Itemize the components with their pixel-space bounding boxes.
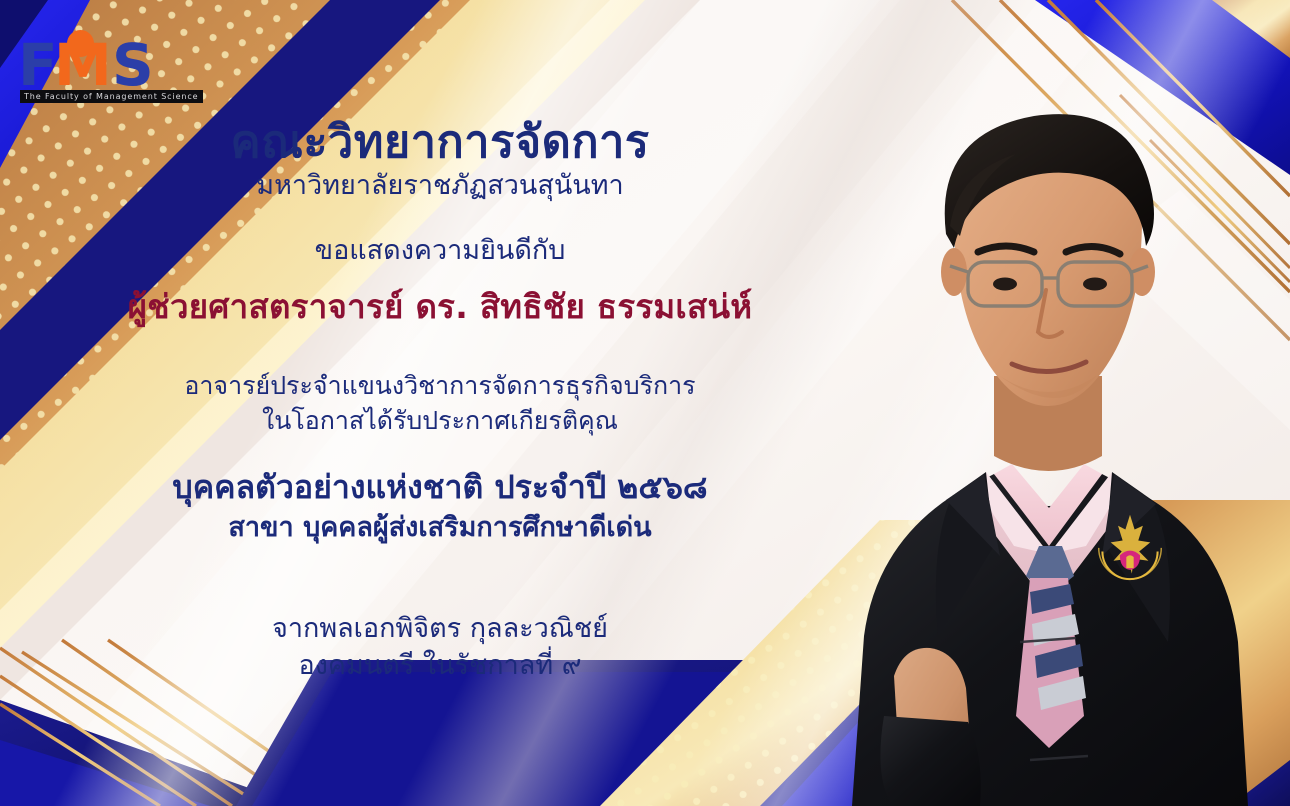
- message-block: คณะวิทยาการจัดการ มหาวิทยาลัยราชภัฏสวนสุ…: [0, 0, 880, 806]
- awarder-title: องคมนตรี ในรัชกาลที่ ๙: [298, 650, 581, 681]
- faculty-name: คณะวิทยาการจัดการ: [230, 116, 649, 168]
- portrait-illustration: [834, 76, 1264, 806]
- award-field: สาขา บุคคลผู้ส่งเสริมการศึกษาดีเด่น: [228, 512, 651, 543]
- awarder-name: จากพลเอกพิจิตร กุลละวณิชย์: [272, 613, 608, 644]
- honoree-name: ผู้ช่วยศาสตราจารย์ ดร. สิทธิชัย ธรรมเสน่…: [128, 288, 753, 326]
- award-title: บุคคลตัวอย่างแห่งชาติ ประจำปี ๒๕๖๘: [172, 469, 707, 506]
- award-occasion: ในโอกาสได้รับประกาศเกียรติคุณ: [262, 407, 618, 436]
- congratulation-intro: ขอแสดงความยินดีกับ: [315, 235, 566, 266]
- honoree-role: อาจารย์ประจำแขนงวิชาการจัดการธุรกิจบริกา…: [184, 372, 695, 401]
- congratulation-banner: F M S The Faculty of Management Science …: [0, 0, 1290, 806]
- university-name: มหาวิทยาลัยราชภัฏสวนสุนันทา: [256, 170, 623, 201]
- portrait-photo: [834, 76, 1264, 806]
